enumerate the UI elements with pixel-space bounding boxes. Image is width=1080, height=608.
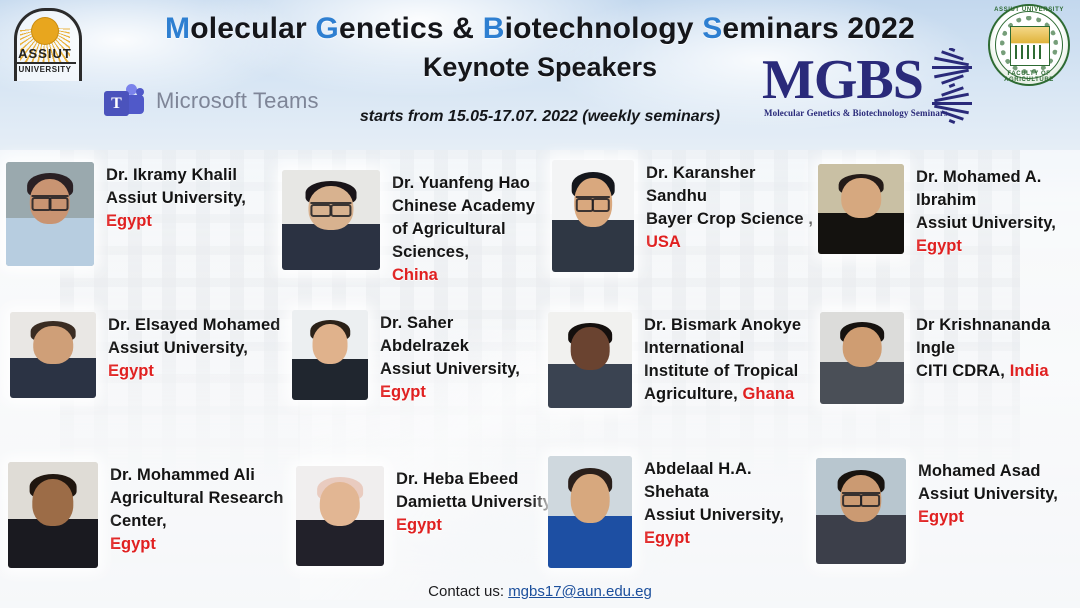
speaker-country: Ghana: [742, 385, 794, 403]
speaker-country: USA: [646, 231, 821, 254]
speaker-affiliation: of Agricultural: [392, 218, 542, 241]
title-accent-letter: B: [483, 12, 505, 45]
photo-face: [571, 474, 610, 523]
photo-face: [32, 479, 73, 526]
photo-torso: [10, 358, 96, 398]
photo-torso: [818, 213, 904, 254]
photo-torso: [292, 359, 368, 400]
title-text: enetics &: [339, 12, 483, 45]
photo-torso: [548, 364, 632, 408]
speaker-country: China: [392, 264, 542, 287]
speaker-card: Dr. Heba EbeedDamietta University,Egypt: [296, 466, 571, 566]
speaker-info: Dr. Mohamed A.IbrahimAssiut University,E…: [916, 164, 1080, 258]
speaker-affiliation: Agriculture, Ghana: [644, 383, 819, 406]
speaker-affiliation: Agricultural Research: [110, 487, 285, 510]
speaker-photo: [6, 162, 94, 266]
speaker-info: Abdelaal H.A. ShehataAssiut University,E…: [644, 456, 819, 550]
photo-face: [313, 324, 348, 364]
speaker-name: Dr. Elsayed Mohamed: [108, 314, 283, 337]
speaker-photo: [292, 310, 368, 400]
speaker-info: Dr. Bismark AnokyeInternationalInstitute…: [644, 312, 819, 406]
speaker-name: Dr. Ikramy Khalil: [106, 164, 281, 187]
photo-torso: [816, 515, 906, 564]
speaker-info: Dr. Heba EbeedDamietta University,Egypt: [396, 466, 571, 537]
mgbs-tagline: Molecular Genetics & Biotechnology Semin…: [764, 108, 964, 118]
speaker-affiliation: International: [644, 337, 819, 360]
mgbs-wordmark: MGBS: [762, 52, 923, 108]
speaker-photo: [10, 312, 96, 398]
speaker-name: Dr. Mohamed A.: [916, 166, 1080, 189]
title-text: olecular: [190, 12, 315, 45]
speaker-name: Abdelaal H.A. Shehata: [644, 458, 819, 504]
speaker-country: India: [1010, 362, 1049, 380]
speaker-card: Dr. Mohamed A.IbrahimAssiut University,E…: [818, 164, 1080, 258]
photo-face: [571, 327, 610, 369]
speaker-country: Egypt: [918, 506, 1080, 529]
speaker-photo: [816, 458, 906, 564]
speaker-country: Egypt: [916, 235, 1080, 258]
speaker-country: Egypt: [644, 527, 819, 550]
speaker-photo: [552, 160, 634, 272]
speaker-affiliation: Assiut University,: [916, 212, 1080, 235]
speaker-info: Dr. Mohammed AliAgricultural ResearchCen…: [110, 462, 285, 556]
title-accent-letter: M: [165, 12, 190, 45]
photo-glasses: [32, 195, 69, 206]
speaker-info: Dr Krishnananda IngleCITI CDRA, India: [916, 312, 1080, 383]
speaker-photo: [8, 462, 98, 568]
photo-torso: [8, 519, 98, 568]
photo-torso: [282, 224, 380, 270]
title-accent-letter: G: [315, 12, 339, 45]
photo-torso: [548, 516, 632, 568]
contact-line: Contact us: mgbs17@aun.edu.eg: [0, 583, 1080, 600]
speaker-name: Dr Krishnananda Ingle: [916, 314, 1080, 360]
speaker-name: Dr. Karansher Sandhu: [646, 162, 821, 208]
speaker-card: Dr. Ikramy KhalilAssiut University,Egypt: [6, 162, 281, 266]
speaker-affiliation: Bayer Crop Science ,: [646, 208, 821, 231]
speaker-name: Dr. Saher Abdelrazek: [380, 312, 540, 358]
speaker-country: Egypt: [380, 381, 540, 404]
speaker-card: Dr. Karansher SandhuBayer Crop Science ,…: [552, 160, 821, 272]
contact-email-link[interactable]: mgbs17@aun.edu.eg: [508, 583, 652, 600]
speaker-info: Dr. Ikramy KhalilAssiut University,Egypt: [106, 162, 281, 233]
title-text: eminars 2022: [722, 12, 915, 45]
photo-torso: [296, 520, 384, 566]
speaker-affiliation: CITI CDRA, India: [916, 360, 1080, 383]
photo-glasses: [310, 202, 351, 213]
mgbs-logo: MGBS Molecular Genetics & Biotechnology …: [762, 52, 972, 130]
speaker-card: Dr. Bismark AnokyeInternationalInstitute…: [548, 312, 819, 408]
speaker-photo: [548, 312, 632, 408]
photo-face: [841, 178, 881, 218]
speaker-info: Dr. Elsayed MohamedAssiut University,Egy…: [108, 312, 283, 383]
contact-label: Contact us:: [428, 583, 504, 600]
speaker-affiliation: Damietta University,: [396, 491, 571, 514]
speaker-name: Dr. Heba Ebeed: [396, 468, 571, 491]
speaker-card: Dr. Saher AbdelrazekAssiut University,Eg…: [292, 310, 540, 404]
speaker-card: Dr Krishnananda IngleCITI CDRA, India: [820, 312, 1080, 404]
speaker-affiliation: Assiut University,: [380, 358, 540, 381]
speaker-name-line2: Ibrahim: [916, 189, 1080, 212]
speaker-affiliation: Chinese Academy: [392, 195, 542, 218]
speaker-name: Dr. Mohammed Ali: [110, 464, 285, 487]
photo-torso: [6, 218, 94, 266]
speaker-photo: [296, 466, 384, 566]
title-text: iotechnology: [505, 12, 703, 45]
speaker-affiliation: Assiut University,: [918, 483, 1080, 506]
speaker-affiliation: Sciences,: [392, 241, 542, 264]
speaker-info: Dr. Yuanfeng HaoChinese Academyof Agricu…: [392, 170, 542, 287]
speaker-name: Dr. Yuanfeng Hao: [392, 172, 542, 195]
speaker-country: Egypt: [106, 210, 281, 233]
title-accent-letter: S: [702, 12, 722, 45]
speaker-country: Egypt: [396, 514, 571, 537]
photo-glasses: [576, 196, 610, 208]
page-title: Molecular Genetics & Biotechnology Semin…: [0, 12, 1080, 46]
speaker-card: Mohamed AsadAssiut University,Egypt: [816, 458, 1080, 564]
seminar-poster: ASSIUT UNIVERSITY ASSIUT UNIVERSITY FACU…: [0, 0, 1080, 608]
speaker-affiliation: Center,: [110, 510, 285, 533]
speaker-country: Egypt: [110, 533, 285, 556]
speaker-name: Dr. Bismark Anokye: [644, 314, 819, 337]
speaker-country: Egypt: [108, 360, 283, 383]
speaker-card: Dr. Elsayed MohamedAssiut University,Egy…: [10, 312, 283, 398]
speaker-affiliation: Institute of Tropical: [644, 360, 819, 383]
speaker-photo: [282, 170, 380, 270]
speaker-info: Dr. Saher AbdelrazekAssiut University,Eg…: [380, 310, 540, 404]
speaker-affiliation: Assiut University,: [644, 504, 819, 527]
photo-face: [843, 327, 882, 367]
photo-torso: [552, 220, 634, 272]
poster-header: ASSIUT UNIVERSITY ASSIUT UNIVERSITY FACU…: [0, 0, 1080, 146]
photo-face: [33, 326, 73, 364]
speaker-card: Abdelaal H.A. ShehataAssiut University,E…: [548, 456, 819, 568]
photo-face: [320, 482, 360, 526]
speaker-photo: [548, 456, 632, 568]
speaker-card: Dr. Yuanfeng HaoChinese Academyof Agricu…: [282, 170, 542, 287]
speaker-affiliation: Assiut University,: [106, 187, 281, 210]
speaker-info: Dr. Karansher SandhuBayer Crop Science ,…: [646, 160, 821, 254]
speaker-photo: [820, 312, 904, 404]
speaker-info: Mohamed AsadAssiut University,Egypt: [918, 458, 1080, 529]
speaker-affiliation: Assiut University,: [108, 337, 283, 360]
photo-glasses: [842, 492, 880, 504]
photo-torso: [820, 362, 904, 404]
speaker-photo: [818, 164, 904, 254]
speaker-name: Mohamed Asad: [918, 460, 1080, 483]
speaker-card: Dr. Mohammed AliAgricultural ResearchCen…: [8, 462, 285, 568]
